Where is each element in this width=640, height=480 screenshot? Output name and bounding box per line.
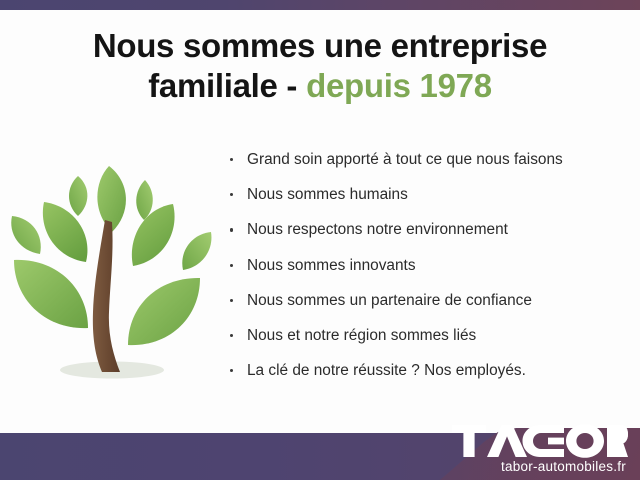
- list-item-label: Grand soin apporté à tout ce que nous fa…: [247, 151, 563, 168]
- list-item: Grand soin apporté à tout ce que nous fa…: [228, 150, 632, 169]
- list-item-label: Nous respectons notre environnement: [247, 221, 508, 238]
- bullet-dot-icon: [230, 299, 233, 302]
- bullet-dot-icon: [230, 228, 233, 231]
- headline-line-1: Nous sommes une entreprise: [0, 26, 640, 66]
- leaf-upper-right-small: [136, 180, 153, 220]
- page-title: Nous sommes une entreprise familiale -de…: [0, 26, 640, 107]
- list-item: Nous sommes un partenaire de confiance: [228, 291, 632, 310]
- bullet-dot-icon: [230, 334, 233, 337]
- list-item-label: La clé de notre réussite ? Nos employés.: [247, 362, 526, 379]
- list-item: Nous sommes innovants: [228, 256, 632, 275]
- list-item: Nous et notre région sommes liés: [228, 326, 632, 345]
- leaf-upper-left-small: [69, 176, 87, 216]
- slide-canvas: Nous sommes une entreprise familiale -de…: [0, 0, 640, 480]
- list-item-label: Nous sommes un partenaire de confiance: [247, 292, 532, 309]
- bullet-dot-icon: [230, 193, 233, 196]
- list-item-label: Nous et notre région sommes liés: [247, 327, 476, 344]
- headline-line-2-black: familiale -: [148, 67, 297, 104]
- tabor-wordmark-icon: [452, 424, 628, 458]
- list-item: Nous sommes humains: [228, 185, 632, 204]
- leaf-mid-right-large: [132, 204, 175, 266]
- benefits-list: Grand soin apporté à tout ce que nous fa…: [228, 150, 632, 396]
- logo-tagline: tabor-automobiles.fr: [442, 459, 626, 474]
- leaf-lower-right-big: [128, 278, 200, 345]
- headline-line-2-accent: depuis 1978: [306, 67, 492, 104]
- leaf-far-left-small: [11, 216, 41, 254]
- list-item: Nous respectons notre environnement: [228, 220, 632, 239]
- tree-illustration: [8, 142, 218, 387]
- leaf-lower-left-big: [14, 260, 88, 328]
- list-item-label: Nous sommes innovants: [247, 257, 416, 274]
- brand-logo[interactable]: tabor-automobiles.fr: [442, 424, 628, 474]
- bullet-dot-icon: [230, 369, 233, 372]
- leaf-far-right-small: [182, 232, 211, 270]
- headline-line-2: familiale -depuis 1978: [0, 66, 640, 106]
- tree-trunk: [93, 220, 120, 372]
- bullet-dot-icon: [230, 264, 233, 267]
- bullet-dot-icon: [230, 158, 233, 161]
- list-item: La clé de notre réussite ? Nos employés.: [228, 361, 632, 380]
- top-accent-bar: [0, 0, 640, 10]
- list-item-label: Nous sommes humains: [247, 186, 408, 203]
